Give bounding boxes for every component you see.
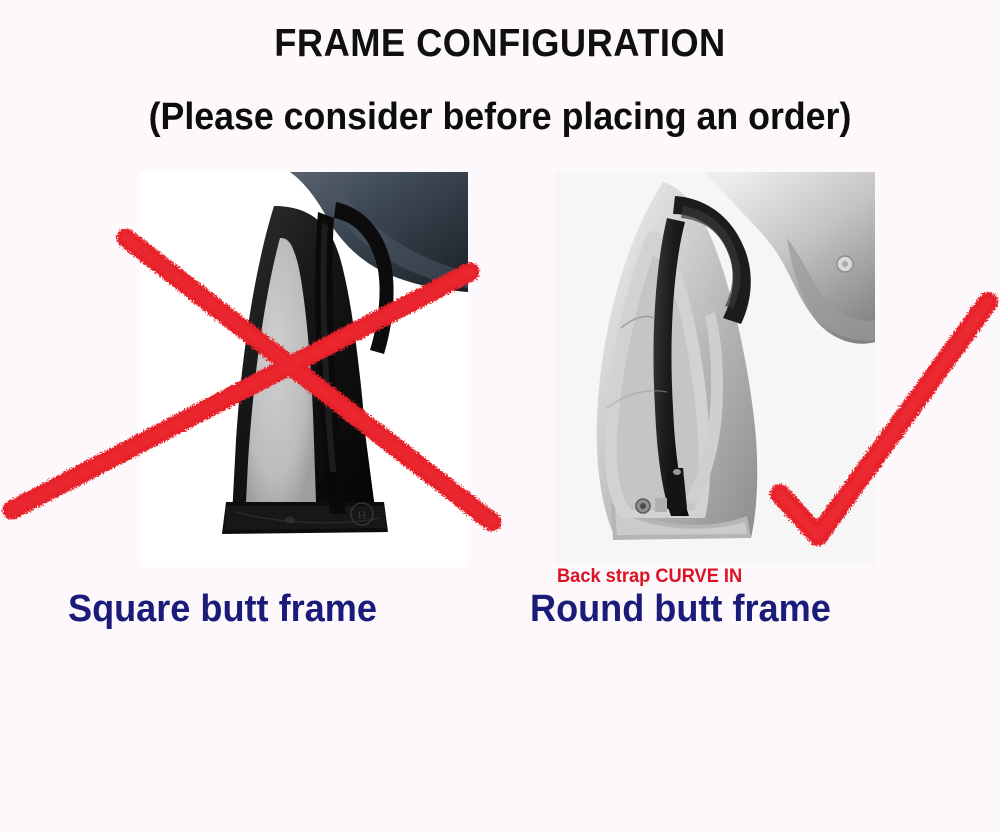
round-butt-frame-caption: Round butt frame [530,588,831,631]
frame-configuration-infographic: FRAME CONFIGURATION (Please consider bef… [0,0,1000,833]
page-title: FRAME CONFIGURATION [35,22,965,66]
round-butt-frame-photo [555,172,875,564]
back-strap-note: Back strap CURVE IN [557,566,742,588]
page-subtitle: (Please consider before placing an order… [30,96,970,139]
square-butt-frame-photo: H [140,172,468,567]
square-butt-frame-caption: Square butt frame [68,588,377,631]
